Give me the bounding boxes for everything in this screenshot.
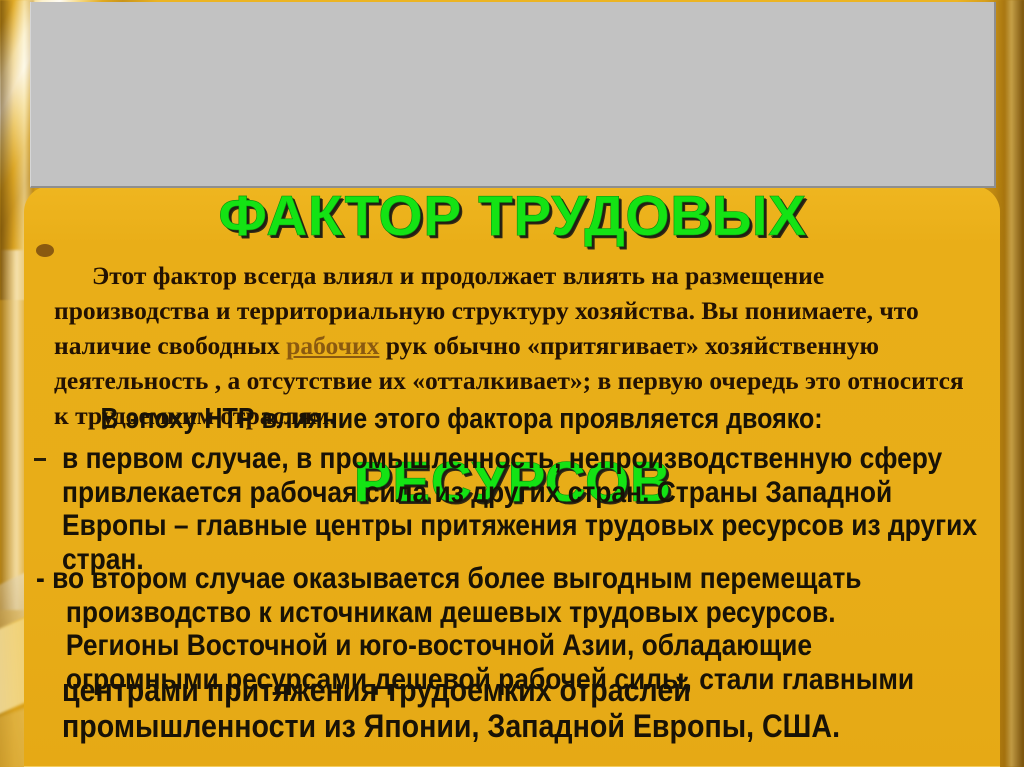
paragraph-conclusion-line-1: центрами притяжения трудоемких отраслей — [62, 672, 1024, 708]
paragraph-second-case-line-1: - во втором случае оказывается более выг… — [36, 562, 1013, 596]
slide-body: Этот фактор всегда влиял и продолжает вл… — [24, 186, 1000, 767]
presentation-slide: ФАКТОР ТРУДОВЫХ РЕСУРСОВ Этот фактор все… — [0, 0, 1024, 767]
paragraph-conclusion: центрами притяжения трудоемких отраслей … — [62, 672, 1024, 744]
paragraph-second-case-line-2: производство к источникам дешевых трудов… — [36, 596, 1013, 630]
paragraph-first-case: в первом случае, в промышленность, непро… — [62, 442, 1004, 576]
dash-marker-first-case — [34, 458, 46, 461]
bullet-oval-icon — [36, 244, 54, 257]
paragraph-conclusion-line-2: промышленности из Японии, Западной Европ… — [62, 708, 1024, 744]
workers-link[interactable]: рабочих — [286, 331, 379, 360]
title-box: ФАКТОР ТРУДОВЫХ РЕСУРСОВ — [30, 2, 996, 188]
paragraph-ntr: В эпоху НТР влияние этого фактора проявл… — [60, 402, 1002, 436]
paragraph-second-case-line-3: Регионы Восточной и юго-восточной Азии, … — [36, 629, 1013, 663]
